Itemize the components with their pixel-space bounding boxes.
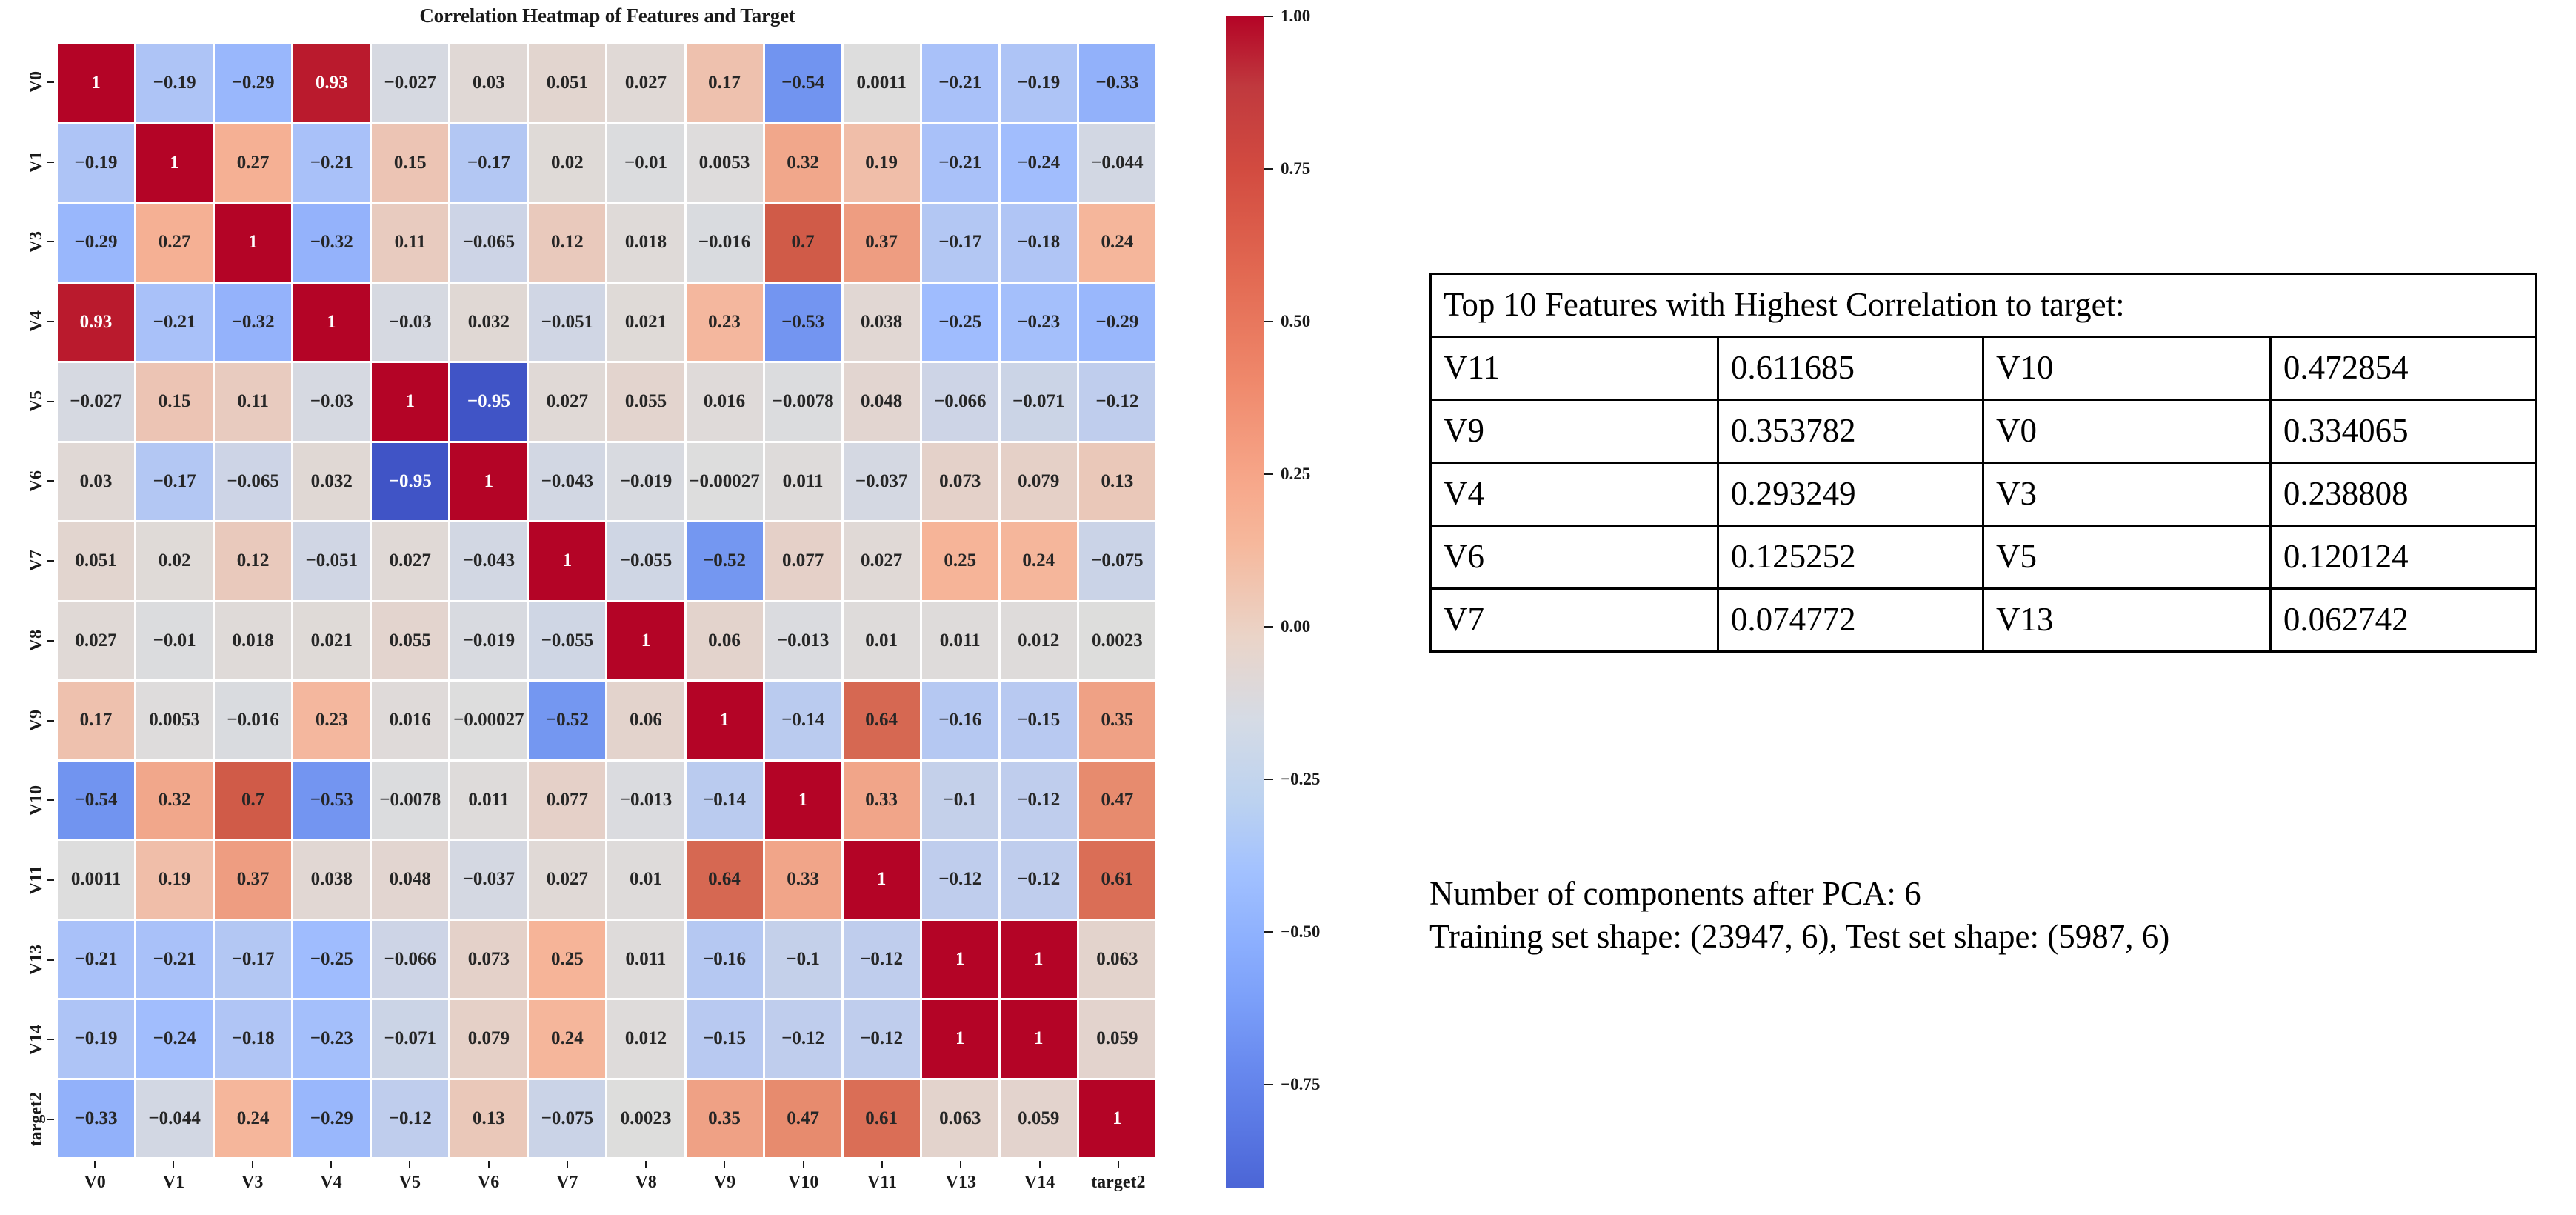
x-axis-tick-label: V6 bbox=[449, 1173, 527, 1193]
heatmap-cell: −0.019 bbox=[450, 602, 527, 680]
heatmap-cell: −0.53 bbox=[293, 762, 370, 839]
heatmap-cell: −0.00027 bbox=[687, 443, 763, 521]
y-axis-tick-text: V14 bbox=[27, 1025, 45, 1055]
heatmap-cell: −0.17 bbox=[922, 204, 998, 282]
heatmap-row: 0.027−0.010.0180.0210.055−0.019−0.05510.… bbox=[58, 602, 1155, 680]
heatmap-cell: 0.12 bbox=[215, 522, 291, 600]
heatmap-cell: 0.018 bbox=[607, 204, 684, 282]
pca-components-note: Number of components after PCA: 6 bbox=[1429, 873, 2540, 916]
feature-value: 0.334065 bbox=[2270, 400, 2535, 463]
heatmap-cell: −0.075 bbox=[1079, 522, 1155, 600]
colorbar-tick-mark bbox=[1264, 16, 1273, 17]
heatmap-cell: −0.027 bbox=[58, 363, 134, 441]
heatmap-cell: −0.016 bbox=[215, 682, 291, 759]
x-axis-tick-label: V7 bbox=[528, 1173, 607, 1193]
heatmap-cell: 0.27 bbox=[215, 124, 291, 202]
heatmap-x-axis-labels: V0V1V3V4V5V6V7V8V9V10V11V13V14target2 bbox=[56, 1159, 1158, 1211]
heatmap-cell: −0.12 bbox=[1001, 841, 1077, 919]
x-axis-tick-label: V1 bbox=[134, 1173, 213, 1193]
heatmap-cell: 0.25 bbox=[922, 522, 998, 600]
heatmap-cell: 1 bbox=[922, 1000, 998, 1078]
y-axis-tick-text: V7 bbox=[27, 550, 45, 571]
y-axis-tick-text: target2 bbox=[27, 1092, 45, 1146]
heatmap-cell: 1 bbox=[450, 443, 527, 521]
heatmap-cell: −0.051 bbox=[529, 284, 605, 362]
heatmap-cell: 0.37 bbox=[844, 204, 920, 282]
heatmap-cell: −0.15 bbox=[1001, 682, 1077, 759]
heatmap-cell: 0.24 bbox=[1079, 204, 1155, 282]
heatmap-cell: −0.013 bbox=[607, 762, 684, 839]
heatmap-cell: −0.071 bbox=[1001, 363, 1077, 441]
heatmap-cell: 0.0011 bbox=[58, 841, 134, 919]
heatmap-cell: 0.02 bbox=[136, 522, 213, 600]
feature-name: V6 bbox=[1431, 526, 1718, 589]
heatmap-cell: 0.61 bbox=[844, 1080, 920, 1158]
heatmap-cell: 0.06 bbox=[687, 602, 763, 680]
heatmap-cell: 1 bbox=[607, 602, 684, 680]
table-row: V9 0.353782 V0 0.334065 bbox=[1431, 400, 2536, 463]
heatmap-cell: 0.027 bbox=[372, 522, 448, 600]
heatmap-cell: −0.16 bbox=[687, 921, 763, 999]
heatmap-cell: 0.011 bbox=[922, 602, 998, 680]
heatmap-cell: −0.00027 bbox=[450, 682, 527, 759]
dataset-shape-note: Training set shape: (23947, 6), Test set… bbox=[1429, 916, 2540, 959]
heatmap-cell: 1 bbox=[1001, 1000, 1077, 1078]
heatmap-cell: −0.19 bbox=[58, 1000, 134, 1078]
heatmap-cell: −0.019 bbox=[607, 443, 684, 521]
heatmap-cell: 0.038 bbox=[844, 284, 920, 362]
heatmap-cell: 0.35 bbox=[1079, 682, 1155, 759]
y-axis-tick-mark bbox=[47, 162, 54, 163]
y-axis-tick-text: V6 bbox=[27, 470, 45, 492]
heatmap-cell: 0.027 bbox=[844, 522, 920, 600]
table-row: V4 0.293249 V3 0.238808 bbox=[1431, 463, 2536, 526]
heatmap-cell: 0.077 bbox=[765, 522, 841, 600]
y-axis-tick-label: V13 bbox=[27, 920, 45, 1000]
heatmap-cell: 0.32 bbox=[765, 124, 841, 202]
y-axis-tick-label: V1 bbox=[27, 122, 45, 202]
heatmap-cell: 0.37 bbox=[215, 841, 291, 919]
y-axis-tick-mark bbox=[47, 640, 54, 642]
heatmap-cell: −0.055 bbox=[607, 522, 684, 600]
y-axis-tick-mark bbox=[47, 560, 54, 562]
table-row: V6 0.125252 V5 0.120124 bbox=[1431, 526, 2536, 589]
feature-value: 0.074772 bbox=[1718, 589, 1983, 652]
heatmap-cell: 0.0023 bbox=[1079, 602, 1155, 680]
heatmap-cell: −0.33 bbox=[1079, 44, 1155, 122]
y-axis-tick-text: V5 bbox=[27, 390, 45, 412]
y-axis-tick-mark bbox=[47, 959, 54, 961]
heatmap-cell: 0.7 bbox=[765, 204, 841, 282]
heatmap-cell: 0.021 bbox=[607, 284, 684, 362]
heatmap-cell: 0.64 bbox=[844, 682, 920, 759]
heatmap-cell: 0.27 bbox=[136, 204, 213, 282]
heatmap-cell: 0.027 bbox=[58, 602, 134, 680]
y-axis-tick-label: V4 bbox=[27, 282, 45, 362]
heatmap-cell: 0.47 bbox=[1079, 762, 1155, 839]
heatmap-cell: −0.037 bbox=[844, 443, 920, 521]
heatmap-cell: −0.01 bbox=[607, 124, 684, 202]
heatmap-cell: 0.016 bbox=[372, 682, 448, 759]
heatmap-cell: 1 bbox=[922, 921, 998, 999]
heatmap-cell: −0.24 bbox=[136, 1000, 213, 1078]
heatmap-cell: −0.19 bbox=[58, 124, 134, 202]
heatmap-row: 0.0510.020.12−0.0510.027−0.0431−0.055−0.… bbox=[58, 522, 1155, 600]
heatmap-cell: −0.044 bbox=[136, 1080, 213, 1158]
heatmap-cell: −0.33 bbox=[58, 1080, 134, 1158]
y-axis-tick-mark bbox=[47, 81, 54, 83]
colorbar-tick-mark bbox=[1264, 1084, 1273, 1085]
y-axis-tick-label: V3 bbox=[27, 202, 45, 282]
heatmap-cell: 0.011 bbox=[607, 921, 684, 999]
heatmap-cell: −0.043 bbox=[529, 443, 605, 521]
heatmap-cell: −0.17 bbox=[136, 443, 213, 521]
heatmap-cell: 0.93 bbox=[293, 44, 370, 122]
heatmap-cell: −0.12 bbox=[1079, 363, 1155, 441]
feature-name: V11 bbox=[1431, 337, 1718, 400]
heatmap-cell: 0.47 bbox=[765, 1080, 841, 1158]
table-title-row: Top 10 Features with Highest Correlation… bbox=[1431, 274, 2536, 337]
heatmap-cell: −0.53 bbox=[765, 284, 841, 362]
heatmap-cell: −0.16 bbox=[922, 682, 998, 759]
y-axis-tick-mark bbox=[47, 321, 54, 322]
heatmap-cell: −0.29 bbox=[215, 44, 291, 122]
y-axis-tick-label: V9 bbox=[27, 681, 45, 761]
x-axis-tick-mark bbox=[881, 1161, 883, 1168]
y-axis-tick-mark bbox=[47, 720, 54, 722]
heatmap-cell: 0.079 bbox=[450, 1000, 527, 1078]
colorbar-tick-label: 0.00 bbox=[1281, 617, 1310, 636]
heatmap-cell: 0.059 bbox=[1079, 1000, 1155, 1078]
feature-name: V7 bbox=[1431, 589, 1718, 652]
feature-name: V4 bbox=[1431, 463, 1718, 526]
x-axis-tick-mark bbox=[488, 1161, 490, 1168]
heatmap-cell: 0.055 bbox=[372, 602, 448, 680]
feature-name: V5 bbox=[1983, 526, 2270, 589]
heatmap-cell: −0.037 bbox=[450, 841, 527, 919]
colorbar-tick-mark bbox=[1264, 779, 1273, 780]
x-axis-tick-label: V3 bbox=[213, 1173, 292, 1193]
heatmap-cell: −0.21 bbox=[136, 921, 213, 999]
y-axis-tick-text: V13 bbox=[27, 945, 45, 975]
heatmap-cell: −0.23 bbox=[1001, 284, 1077, 362]
heatmap-cell: 0.079 bbox=[1001, 443, 1077, 521]
heatmap-cell: −0.066 bbox=[922, 363, 998, 441]
heatmap-cell: 0.0053 bbox=[687, 124, 763, 202]
feature-value: 0.472854 bbox=[2270, 337, 2535, 400]
heatmap-cell: −0.043 bbox=[450, 522, 527, 600]
heatmap-cell: 0.12 bbox=[529, 204, 605, 282]
heatmap-cell: 0.048 bbox=[844, 363, 920, 441]
feature-value: 0.238808 bbox=[2270, 463, 2535, 526]
feature-name: V0 bbox=[1983, 400, 2270, 463]
heatmap-row: −0.21−0.21−0.17−0.25−0.0660.0730.250.011… bbox=[58, 921, 1155, 999]
heatmap-cell: 0.073 bbox=[922, 443, 998, 521]
y-axis-tick-text: V3 bbox=[27, 231, 45, 253]
heatmap-row: 0.170.0053−0.0160.230.016−0.00027−0.520.… bbox=[58, 682, 1155, 759]
heatmap-cell: 0.038 bbox=[293, 841, 370, 919]
heatmap-cell: 0.64 bbox=[687, 841, 763, 919]
x-axis-tick-label: V4 bbox=[292, 1173, 370, 1193]
colorbar-tick-mark bbox=[1264, 473, 1273, 475]
heatmap-cell: 0.011 bbox=[765, 443, 841, 521]
colorbar-tick-label: 0.25 bbox=[1281, 465, 1310, 484]
heatmap-cell: −0.03 bbox=[293, 363, 370, 441]
heatmap-cell: −0.051 bbox=[293, 522, 370, 600]
feature-name: V9 bbox=[1431, 400, 1718, 463]
heatmap-cell: −0.1 bbox=[765, 921, 841, 999]
colorbar-gradient bbox=[1226, 16, 1264, 1188]
y-axis-tick-text: V4 bbox=[27, 310, 45, 332]
x-axis-tick-mark bbox=[645, 1161, 647, 1168]
y-axis-tick-label: target2 bbox=[27, 1079, 45, 1159]
y-axis-tick-mark bbox=[47, 480, 54, 482]
heatmap-cell: −0.25 bbox=[293, 921, 370, 999]
heatmap-cell: −0.065 bbox=[215, 443, 291, 521]
heatmap-cell: −0.23 bbox=[293, 1000, 370, 1078]
heatmap-cell: 1 bbox=[215, 204, 291, 282]
y-axis-tick-label: V11 bbox=[27, 840, 45, 920]
heatmap-cell: 0.06 bbox=[607, 682, 684, 759]
y-axis-tick-mark bbox=[47, 401, 54, 402]
y-axis-tick-text: V9 bbox=[27, 710, 45, 731]
feature-value: 0.120124 bbox=[2270, 526, 2535, 589]
y-axis-tick-mark bbox=[47, 879, 54, 881]
colorbar-tick-label: 0.50 bbox=[1281, 312, 1310, 331]
heatmap-cell: 0.24 bbox=[1001, 522, 1077, 600]
heatmap-cell: −0.29 bbox=[58, 204, 134, 282]
table-row: V11 0.611685 V10 0.472854 bbox=[1431, 337, 2536, 400]
heatmap-cell: −0.027 bbox=[372, 44, 448, 122]
feature-value: 0.353782 bbox=[1718, 400, 1983, 463]
colorbar-tick-mark bbox=[1264, 321, 1273, 322]
heatmap-cell: −0.14 bbox=[765, 682, 841, 759]
heatmap-cell: 0.0053 bbox=[136, 682, 213, 759]
heatmap-cell: −0.95 bbox=[450, 363, 527, 441]
table-title: Top 10 Features with Highest Correlation… bbox=[1431, 274, 2536, 337]
heatmap-cell: −0.29 bbox=[1079, 284, 1155, 362]
heatmap-cell: −0.15 bbox=[687, 1000, 763, 1078]
heatmap-cell: 1 bbox=[1001, 921, 1077, 999]
x-axis-tick-mark bbox=[567, 1161, 568, 1168]
heatmap-cell: 0.61 bbox=[1079, 841, 1155, 919]
colorbar-tick-label: 0.75 bbox=[1281, 159, 1310, 179]
heatmap-cell: 0.33 bbox=[844, 762, 920, 839]
heatmap-cell: −0.055 bbox=[529, 602, 605, 680]
heatmap-cell: −0.24 bbox=[1001, 124, 1077, 202]
x-axis-tick-label: V10 bbox=[764, 1173, 843, 1193]
heatmap-cell: −0.0078 bbox=[765, 363, 841, 441]
x-axis-tick-mark bbox=[960, 1161, 961, 1168]
colorbar-tick-mark bbox=[1264, 168, 1273, 170]
heatmap-cell: 0.17 bbox=[687, 44, 763, 122]
heatmap-cell: −0.19 bbox=[1001, 44, 1077, 122]
heatmap-y-axis-labels: V0V1V3V4V5V6V7V8V9V10V11V13V14target2 bbox=[0, 42, 56, 1159]
heatmap-cell: 0.02 bbox=[529, 124, 605, 202]
heatmap-cell: −0.52 bbox=[529, 682, 605, 759]
heatmap-cell: 1 bbox=[529, 522, 605, 600]
table-row: V7 0.074772 V13 0.062742 bbox=[1431, 589, 2536, 652]
heatmap-cell: 0.012 bbox=[1001, 602, 1077, 680]
heatmap-cell: 0.016 bbox=[687, 363, 763, 441]
page-title: Correlation Heatmap of Features and Targ… bbox=[56, 4, 1159, 27]
y-axis-tick-label: V7 bbox=[27, 521, 45, 601]
heatmap-row: −0.0270.150.11−0.031−0.950.0270.0550.016… bbox=[58, 363, 1155, 441]
x-axis-tick-mark bbox=[409, 1161, 410, 1168]
colorbar-tick-mark bbox=[1264, 931, 1273, 933]
heatmap-cell: 0.011 bbox=[450, 762, 527, 839]
feature-name: V3 bbox=[1983, 463, 2270, 526]
heatmap-cell: −0.19 bbox=[136, 44, 213, 122]
heatmap-cell: 0.13 bbox=[450, 1080, 527, 1158]
heatmap-cell: 0.032 bbox=[450, 284, 527, 362]
heatmap-cell: −0.21 bbox=[293, 124, 370, 202]
y-axis-tick-text: V10 bbox=[27, 785, 45, 816]
heatmap-cell: −0.17 bbox=[215, 921, 291, 999]
y-axis-tick-mark bbox=[47, 799, 54, 801]
heatmap-cell: −0.54 bbox=[58, 762, 134, 839]
heatmap-cell: −0.01 bbox=[136, 602, 213, 680]
heatmap-cell: 1 bbox=[136, 124, 213, 202]
x-axis-tick-mark bbox=[724, 1161, 725, 1168]
heatmap-cell: −0.25 bbox=[922, 284, 998, 362]
heatmap-cell: −0.54 bbox=[765, 44, 841, 122]
heatmap-cell: 0.32 bbox=[136, 762, 213, 839]
heatmap-cell: 0.17 bbox=[58, 682, 134, 759]
heatmap-cell: −0.52 bbox=[687, 522, 763, 600]
heatmap-cell: −0.12 bbox=[844, 1000, 920, 1078]
heatmap-cell: 0.19 bbox=[844, 124, 920, 202]
heatmap-cell: 1 bbox=[1079, 1080, 1155, 1158]
heatmap-cell: 0.063 bbox=[922, 1080, 998, 1158]
x-axis-tick-label: V14 bbox=[1000, 1173, 1078, 1193]
colorbar-tick-label: 1.00 bbox=[1281, 7, 1310, 26]
heatmap-cell: −0.075 bbox=[529, 1080, 605, 1158]
heatmap-row: −0.1910.27−0.210.15−0.170.02−0.010.00530… bbox=[58, 124, 1155, 202]
heatmap-cell: −0.071 bbox=[372, 1000, 448, 1078]
colorbar-tick-mark bbox=[1264, 626, 1273, 628]
heatmap-cell: 0.11 bbox=[215, 363, 291, 441]
colorbar: 1.000.750.500.250.00−0.25−0.50−0.75 bbox=[1226, 16, 1396, 1188]
heatmap-row: 1−0.19−0.290.93−0.0270.030.0510.0270.17−… bbox=[58, 44, 1155, 122]
heatmap-cell: 0.93 bbox=[58, 284, 134, 362]
heatmap-cell: −0.21 bbox=[922, 124, 998, 202]
heatmap-cell: 0.051 bbox=[529, 44, 605, 122]
heatmap-cell: −0.21 bbox=[922, 44, 998, 122]
y-axis-tick-text: V11 bbox=[27, 865, 45, 895]
heatmap-row: −0.19−0.24−0.18−0.23−0.0710.0790.240.012… bbox=[58, 1000, 1155, 1078]
heatmap-cell: −0.12 bbox=[765, 1000, 841, 1078]
heatmap-cell: 1 bbox=[765, 762, 841, 839]
heatmap-cell: −0.17 bbox=[450, 124, 527, 202]
heatmap-cell: 0.0011 bbox=[844, 44, 920, 122]
y-axis-tick-text: V8 bbox=[27, 630, 45, 651]
heatmap-cell: 0.15 bbox=[372, 124, 448, 202]
heatmap-row: 0.03−0.17−0.0650.032−0.951−0.043−0.019−0… bbox=[58, 443, 1155, 521]
x-axis-tick-label: target2 bbox=[1079, 1173, 1158, 1193]
heatmap-cell: 0.0023 bbox=[607, 1080, 684, 1158]
x-axis-tick-label: V11 bbox=[843, 1173, 921, 1193]
feature-value: 0.293249 bbox=[1718, 463, 1983, 526]
x-axis-tick-label: V9 bbox=[685, 1173, 764, 1193]
heatmap-cell: 0.021 bbox=[293, 602, 370, 680]
heatmap-cell: 0.077 bbox=[529, 762, 605, 839]
heatmap-cell: 0.7 bbox=[215, 762, 291, 839]
heatmap-cell: −0.18 bbox=[1001, 204, 1077, 282]
heatmap-cell: −0.18 bbox=[215, 1000, 291, 1078]
heatmap-cell: 0.15 bbox=[136, 363, 213, 441]
x-axis-tick-label: V5 bbox=[370, 1173, 449, 1193]
heatmap-cell: 0.059 bbox=[1001, 1080, 1077, 1158]
y-axis-tick-label: V8 bbox=[27, 601, 45, 681]
y-axis-tick-label: V5 bbox=[27, 362, 45, 442]
heatmap-cell: 0.048 bbox=[372, 841, 448, 919]
heatmap-cell: 0.24 bbox=[529, 1000, 605, 1078]
heatmap-cell: 0.11 bbox=[372, 204, 448, 282]
x-axis-tick-label: V8 bbox=[607, 1173, 685, 1193]
heatmap-cell: 0.03 bbox=[58, 443, 134, 521]
y-axis-tick-mark bbox=[47, 1039, 54, 1040]
heatmap-cell: 0.13 bbox=[1079, 443, 1155, 521]
x-axis-tick-mark bbox=[803, 1161, 804, 1168]
heatmap-cell: 0.25 bbox=[529, 921, 605, 999]
heatmap-cell: −0.95 bbox=[372, 443, 448, 521]
heatmap-cell: −0.044 bbox=[1079, 124, 1155, 202]
heatmap-cell: −0.016 bbox=[687, 204, 763, 282]
y-axis-tick-text: V0 bbox=[27, 71, 45, 93]
heatmap-cell: 0.01 bbox=[844, 602, 920, 680]
y-axis-tick-text: V1 bbox=[27, 151, 45, 173]
heatmap-row: 0.00110.190.370.0380.048−0.0370.0270.010… bbox=[58, 841, 1155, 919]
heatmap-cell: −0.29 bbox=[293, 1080, 370, 1158]
heatmap-cell: −0.21 bbox=[136, 284, 213, 362]
heatmap-cell: −0.1 bbox=[922, 762, 998, 839]
x-axis-tick-mark bbox=[330, 1161, 332, 1168]
heatmap-cell: 0.073 bbox=[450, 921, 527, 999]
heatmap-cell: 0.01 bbox=[607, 841, 684, 919]
heatmap-cell: 1 bbox=[687, 682, 763, 759]
x-axis-tick-label: V0 bbox=[56, 1173, 134, 1193]
heatmap-cell: 0.018 bbox=[215, 602, 291, 680]
y-axis-tick-label: V6 bbox=[27, 442, 45, 522]
x-axis-tick-mark bbox=[173, 1161, 174, 1168]
heatmap-cell: 0.19 bbox=[136, 841, 213, 919]
y-axis-tick-label: V10 bbox=[27, 760, 45, 840]
heatmap-cell: 0.032 bbox=[293, 443, 370, 521]
heatmap-row: −0.33−0.0440.24−0.29−0.120.13−0.0750.002… bbox=[58, 1080, 1155, 1158]
heatmap-cell: −0.065 bbox=[450, 204, 527, 282]
x-axis-tick-mark bbox=[1118, 1161, 1119, 1168]
heatmap-cell: 1 bbox=[293, 284, 370, 362]
heatmap-cell: 0.03 bbox=[450, 44, 527, 122]
top-features-table: Top 10 Features with Highest Correlation… bbox=[1429, 273, 2537, 653]
heatmap-cell: −0.21 bbox=[58, 921, 134, 999]
feature-value: 0.062742 bbox=[2270, 589, 2535, 652]
colorbar-tick-label: −0.50 bbox=[1281, 922, 1320, 942]
heatmap-cell: 0.055 bbox=[607, 363, 684, 441]
heatmap-cell: −0.12 bbox=[922, 841, 998, 919]
heatmap-cell: −0.32 bbox=[293, 204, 370, 282]
y-axis-tick-mark bbox=[47, 1119, 54, 1120]
heatmap-cell: −0.12 bbox=[372, 1080, 448, 1158]
heatmap-grid: 1−0.19−0.290.93−0.0270.030.0510.0270.17−… bbox=[56, 42, 1158, 1159]
feature-value: 0.125252 bbox=[1718, 526, 1983, 589]
x-axis-tick-label: V13 bbox=[921, 1173, 1000, 1193]
heatmap-table: 1−0.19−0.290.93−0.0270.030.0510.0270.17−… bbox=[56, 42, 1158, 1159]
heatmap-cell: 0.35 bbox=[687, 1080, 763, 1158]
heatmap-cell: 0.027 bbox=[607, 44, 684, 122]
heatmap-cell: 0.33 bbox=[765, 841, 841, 919]
